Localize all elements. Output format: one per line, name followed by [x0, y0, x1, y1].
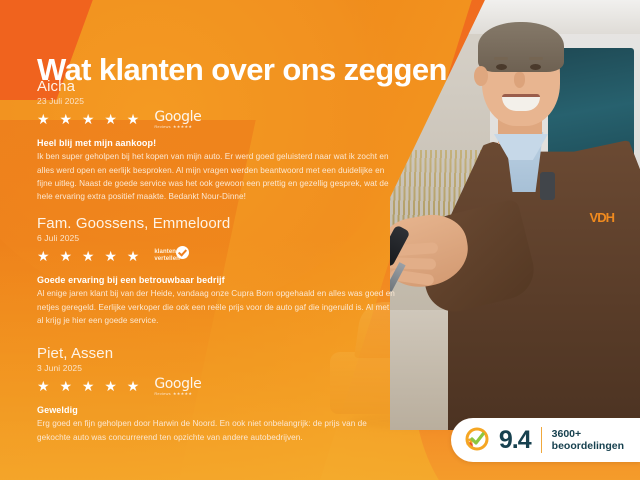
review-card: Fam. Goossens, Emmeloord 6 Juli 2025 ★ ★…: [37, 215, 397, 327]
klantenvertellen-logo[interactable]: klanten vertellen: [154, 249, 189, 263]
badge-divider: [541, 427, 542, 453]
google-reviews-label: Reviews: [154, 391, 171, 396]
google-wordmark: Google: [154, 110, 201, 124]
overall-rating-badge[interactable]: 9.4 3600+ beoordelingen: [451, 418, 640, 462]
review-date: 23 Juli 2025: [37, 96, 397, 106]
rating-count-label: beoordelingen: [552, 440, 624, 452]
review-card: Aicha 23 Juli 2025 ★ ★ ★ ★ ★ Google Revi…: [37, 78, 397, 203]
review-title: Goede ervaring bij een betrouwbaar bedri…: [37, 275, 397, 285]
google-reviews-logo[interactable]: Google Reviews ★★★★★: [154, 110, 201, 129]
review-body: Ik ben super geholpen bij het kopen van …: [37, 150, 397, 203]
google-reviews-label: Reviews: [154, 124, 171, 129]
google-reviews-stars: ★★★★★: [173, 124, 192, 129]
star-rating: ★ ★ ★ ★ ★: [37, 112, 142, 126]
reviewer-name: Aicha: [37, 78, 397, 95]
review-body: Erg goed en fijn geholpen door Harwin de…: [37, 417, 397, 444]
brand-mark-on-sweater: VDH: [590, 210, 614, 225]
review-date: 6 Juli 2025: [37, 233, 397, 243]
review-title: Heel blij met mijn aankoop!: [37, 138, 397, 148]
reviewer-name: Piet, Assen: [37, 345, 397, 362]
star-rating: ★ ★ ★ ★ ★: [37, 379, 142, 393]
review-title: Geweldig: [37, 405, 397, 415]
reviewer-name: Fam. Goossens, Emmeloord: [37, 215, 397, 232]
klantenvertellen-check-icon: [463, 427, 489, 453]
review-body: Al enige jaren klant bij van der Heide, …: [37, 287, 397, 327]
check-badge-icon: [176, 246, 189, 259]
star-rating: ★ ★ ★ ★ ★: [37, 249, 142, 263]
rating-count: 3600+: [552, 428, 624, 440]
review-date: 3 Juni 2025: [37, 363, 397, 373]
rating-score: 9.4: [499, 428, 531, 453]
google-reviews-logo[interactable]: Google Reviews ★★★★★: [154, 377, 201, 396]
review-card: Piet, Assen 3 Juni 2025 ★ ★ ★ ★ ★ Google…: [37, 345, 397, 444]
google-wordmark: Google: [154, 377, 201, 391]
review-banner: VDH Wat klanten over ons zeggen Aicha 23…: [0, 0, 640, 480]
google-reviews-stars: ★★★★★: [173, 391, 192, 396]
klantenvertellen-line2: vertellen: [154, 256, 180, 263]
